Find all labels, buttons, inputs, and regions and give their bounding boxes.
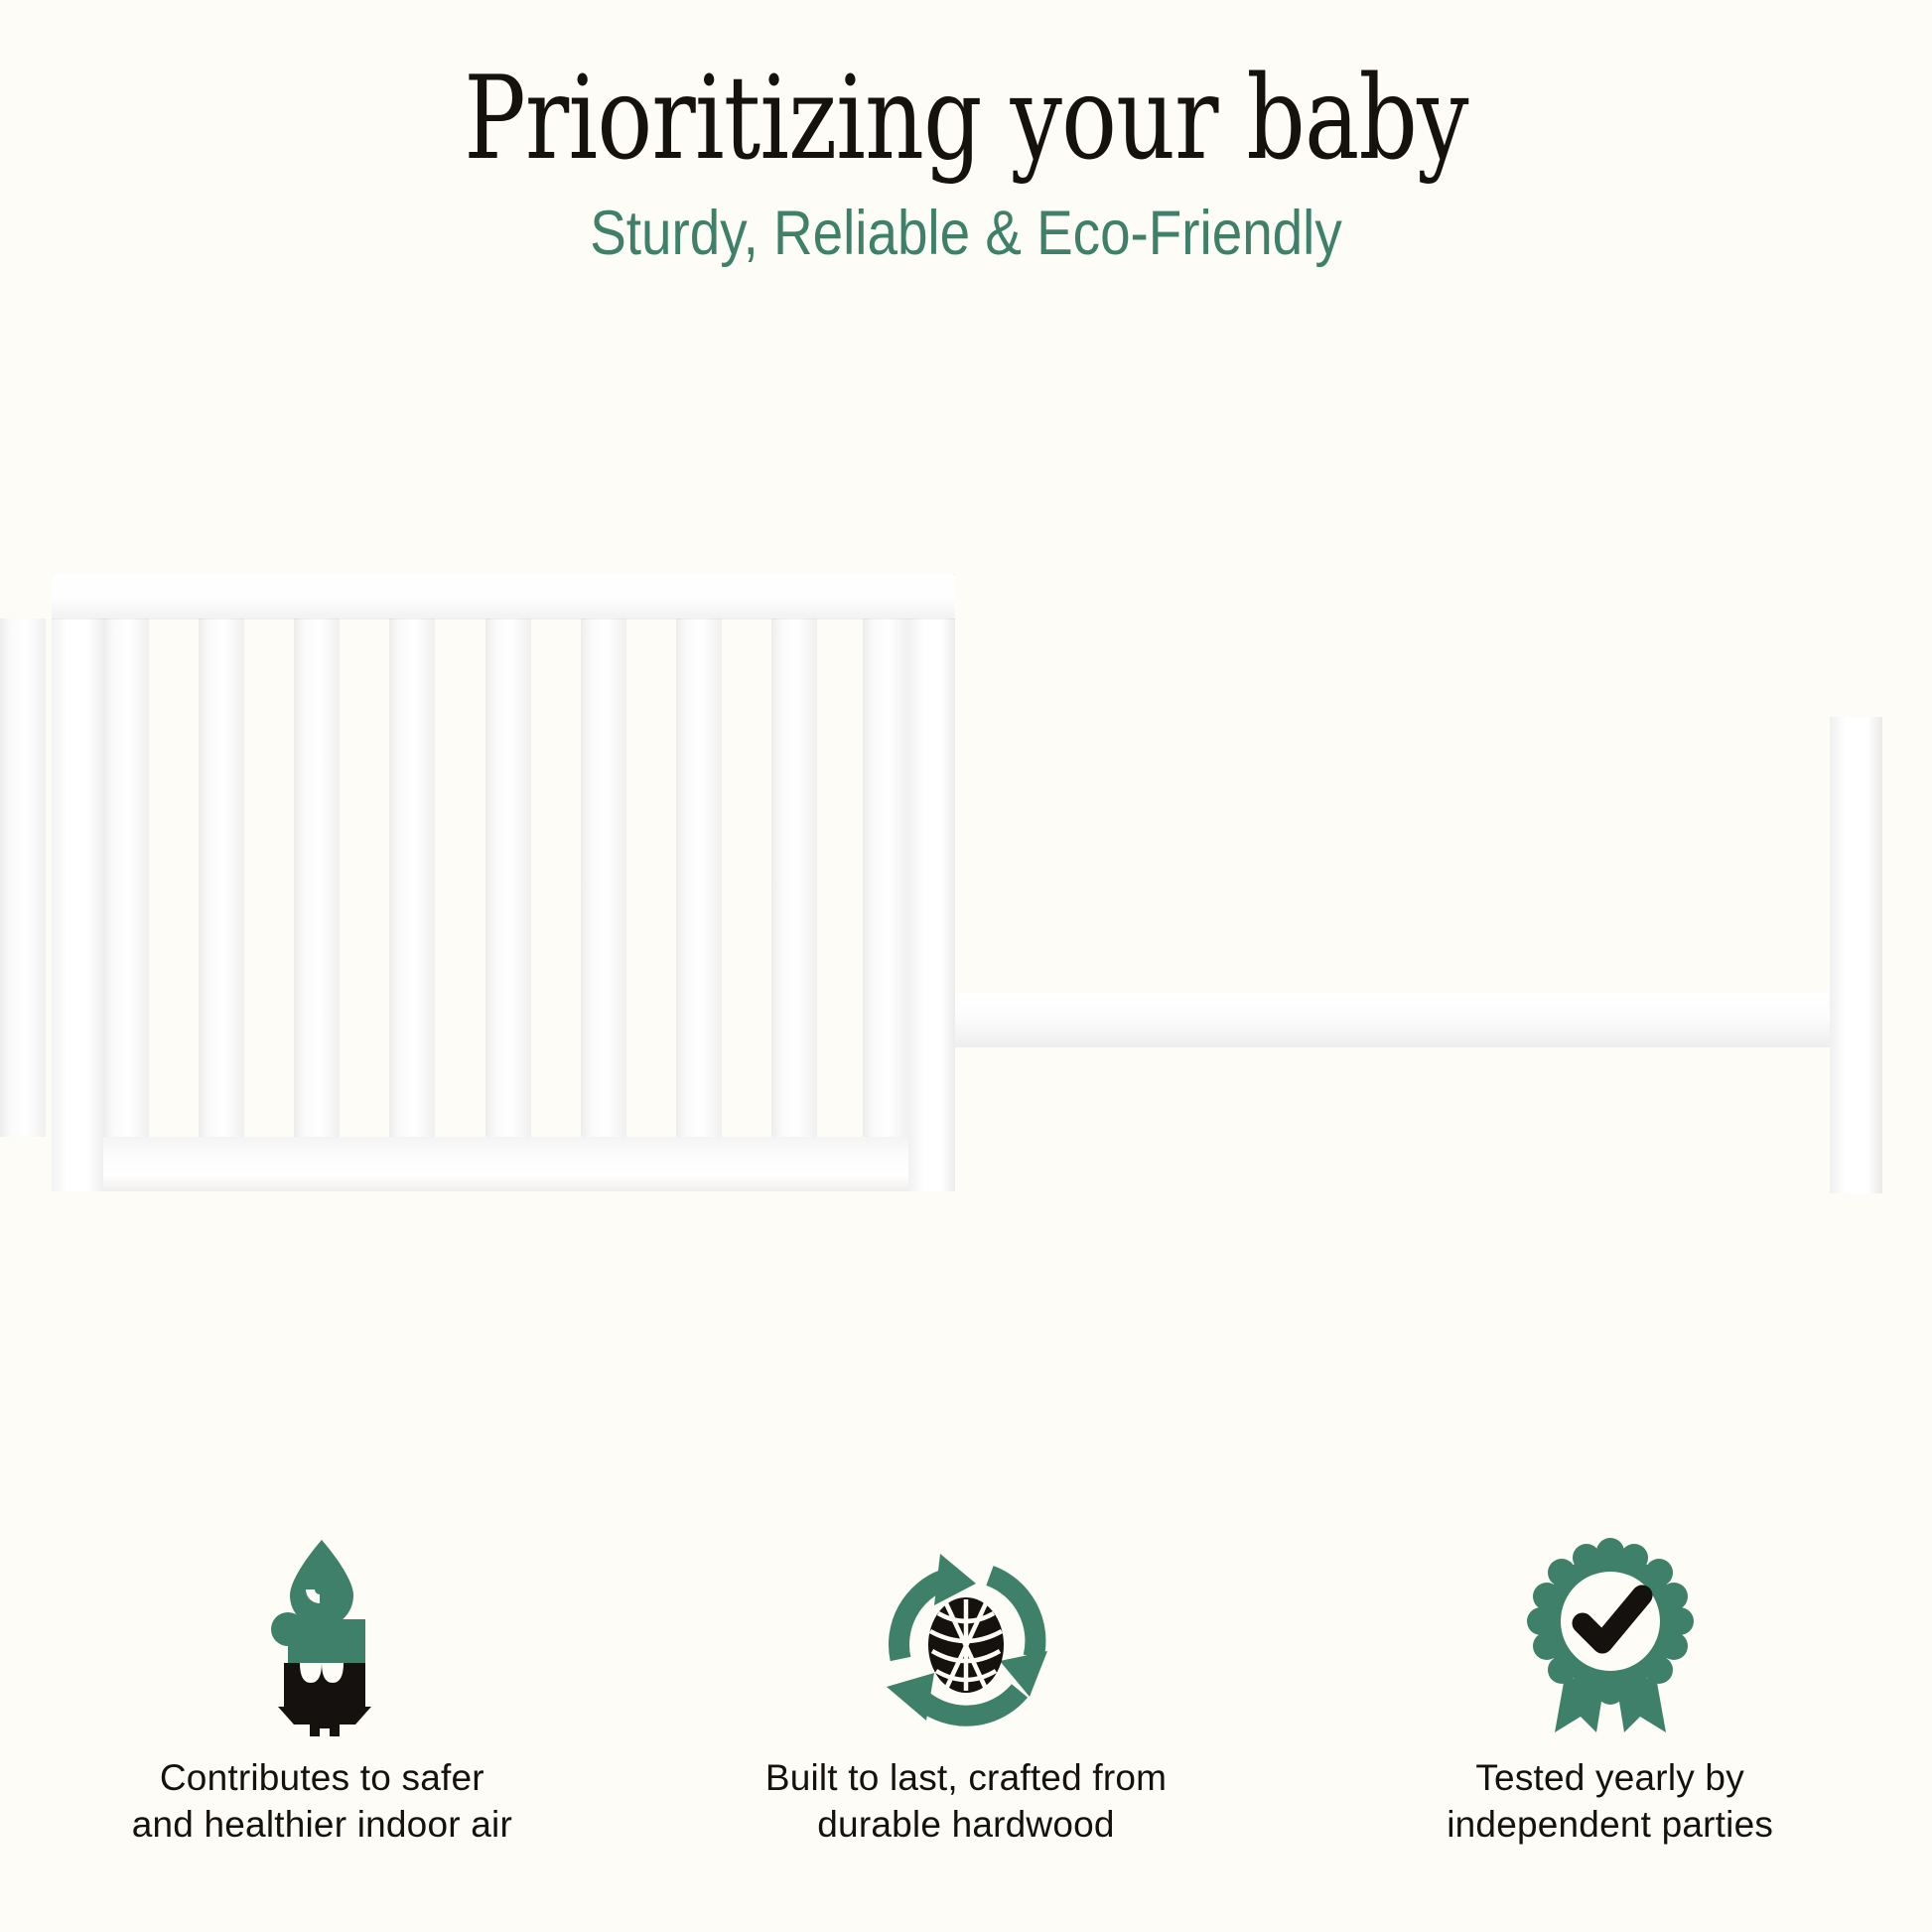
feature-badges: Contributes to safer and healthier indoo… bbox=[0, 1535, 1932, 1849]
rail-slat bbox=[676, 619, 722, 1137]
rail-side-highlight bbox=[955, 993, 1833, 997]
rail-slat bbox=[0, 619, 46, 1137]
feature-item: Tested yearly by independent parties bbox=[1352, 1535, 1868, 1849]
feature-caption: Built to last, crafted from durable hard… bbox=[765, 1755, 1167, 1849]
rail-slat bbox=[863, 619, 908, 1137]
rail-inner-right-post bbox=[908, 574, 955, 1191]
rail-slat bbox=[581, 619, 626, 1137]
rail-slat bbox=[294, 619, 340, 1137]
rail-left-post bbox=[52, 574, 103, 1191]
feature-caption: Tested yearly by independent parties bbox=[1447, 1755, 1773, 1849]
rail-end-post bbox=[1830, 717, 1882, 1193]
feature-caption: Contributes to safer and healthier indoo… bbox=[132, 1755, 512, 1849]
rail-slat bbox=[389, 619, 435, 1137]
product-feature-infographic: { "header": { "headline": "Prioritizing … bbox=[0, 0, 1932, 1932]
rail-bottom-horizontal bbox=[52, 1137, 955, 1191]
rail-slat bbox=[771, 619, 817, 1137]
feature-item: Contributes to safer and healthier indoo… bbox=[64, 1535, 580, 1849]
feature-item: Built to last, crafted from durable hard… bbox=[708, 1535, 1224, 1849]
page-title: Prioritizing your baby bbox=[194, 0, 1739, 177]
rail-slat bbox=[199, 619, 244, 1137]
rail-slat bbox=[485, 619, 531, 1137]
paintbrush-with-paint-drop-icon bbox=[222, 1535, 421, 1739]
rail-top-horizontal bbox=[52, 574, 955, 619]
header: Prioritizing your baby Sturdy, Reliable … bbox=[0, 0, 1932, 265]
certified-rosette-checkmark-icon bbox=[1511, 1535, 1710, 1739]
recycle-arrows-pinecone-icon bbox=[867, 1535, 1065, 1739]
rail-side-horizontal bbox=[955, 996, 1833, 1047]
page-subtitle: Sturdy, Reliable & Eco-Friendly bbox=[125, 177, 1806, 265]
rail-slat bbox=[103, 619, 149, 1137]
